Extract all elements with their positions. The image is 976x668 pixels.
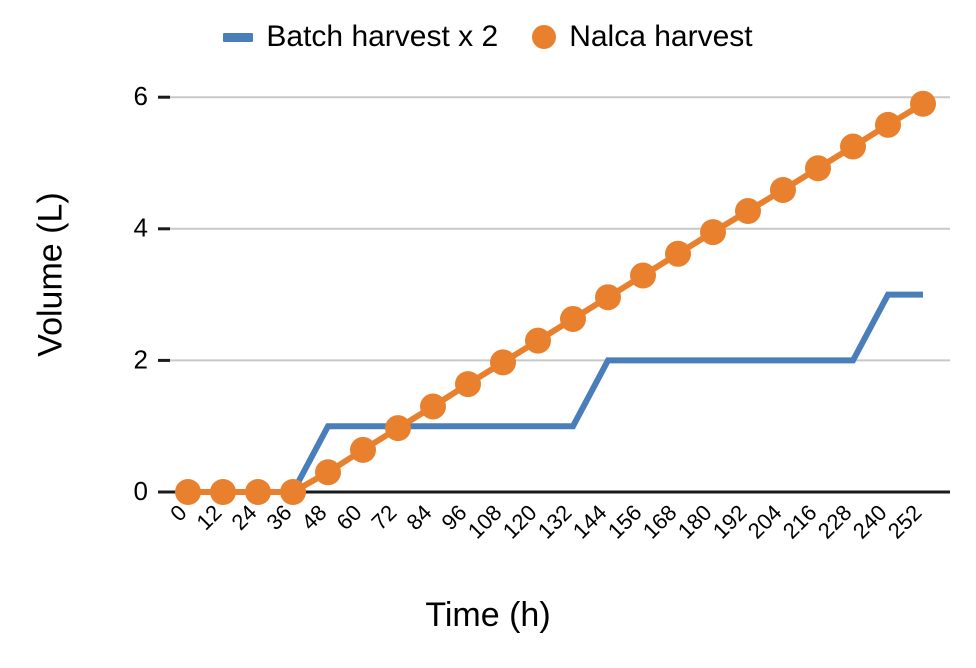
x-tick-label: 132 (533, 500, 577, 544)
chart-container: Batch harvest x 2 Nalca harvest Volume (… (0, 0, 976, 668)
nalca-harvest-data-point[interactable] (700, 219, 726, 245)
x-tick-label: 60 (332, 500, 367, 535)
nalca-harvest-data-point[interactable] (805, 155, 831, 181)
series-batch-harvest (188, 295, 923, 492)
y-tick-labels-group: 0246 (134, 81, 170, 506)
nalca-harvest-data-point[interactable] (280, 479, 306, 505)
x-tick-label: 108 (463, 500, 507, 544)
x-tick-label: 72 (367, 500, 402, 535)
gridlines-group (170, 97, 950, 360)
nalca-harvest-data-point[interactable] (350, 437, 376, 463)
y-tick-label: 0 (134, 476, 148, 506)
x-tick-label: 24 (227, 500, 262, 535)
nalca-harvest-data-point[interactable] (210, 479, 236, 505)
nalca-harvest-data-point[interactable] (770, 177, 796, 203)
nalca-harvest-data-point[interactable] (560, 306, 586, 332)
nalca-harvest-data-point[interactable] (455, 371, 481, 397)
series-nalca-harvest (175, 91, 936, 505)
x-tick-label: 204 (743, 500, 787, 544)
nalca-harvest-data-point[interactable] (875, 112, 901, 138)
x-tick-label: 252 (883, 500, 927, 544)
x-tick-label: 240 (848, 500, 892, 544)
nalca-harvest-data-point[interactable] (175, 479, 201, 505)
plot-area: 0246 01224364860728496108120132144156168… (0, 0, 976, 668)
x-tick-label: 144 (568, 500, 612, 544)
nalca-harvest-data-point[interactable] (315, 459, 341, 485)
x-tick-label: 180 (673, 500, 717, 544)
nalca-harvest-data-point[interactable] (420, 393, 446, 419)
nalca-harvest-data-point[interactable] (245, 479, 271, 505)
nalca-harvest-data-point[interactable] (525, 328, 551, 354)
nalca-harvest-data-point[interactable] (630, 263, 656, 289)
x-tick-label: 12 (192, 500, 227, 535)
x-tick-label: 168 (638, 500, 682, 544)
x-tick-label: 36 (262, 500, 297, 535)
nalca-harvest-data-point[interactable] (665, 241, 691, 267)
x-tick-label: 84 (402, 500, 437, 535)
x-tick-label: 216 (778, 500, 822, 544)
x-tick-label: 48 (297, 500, 332, 535)
nalca-harvest-data-point[interactable] (490, 349, 516, 375)
chart-svg: 0246 01224364860728496108120132144156168… (0, 0, 976, 668)
nalca-harvest-data-point[interactable] (840, 134, 866, 160)
x-tick-label: 228 (813, 500, 857, 544)
nalca-harvest-data-point[interactable] (595, 284, 621, 310)
nalca-harvest-data-point[interactable] (385, 415, 411, 441)
y-tick-label: 6 (134, 81, 148, 111)
y-tick-label: 4 (134, 213, 148, 243)
x-tick-label: 192 (708, 500, 752, 544)
batch-harvest-line (188, 295, 923, 492)
nalca-harvest-data-point[interactable] (735, 198, 761, 224)
x-tick-label: 120 (498, 500, 542, 544)
y-tick-label: 2 (134, 344, 148, 374)
nalca-harvest-data-point[interactable] (910, 91, 936, 117)
x-tick-labels-group: 0122436486072849610812013214415616818019… (165, 500, 926, 544)
x-tick-label: 156 (603, 500, 647, 544)
